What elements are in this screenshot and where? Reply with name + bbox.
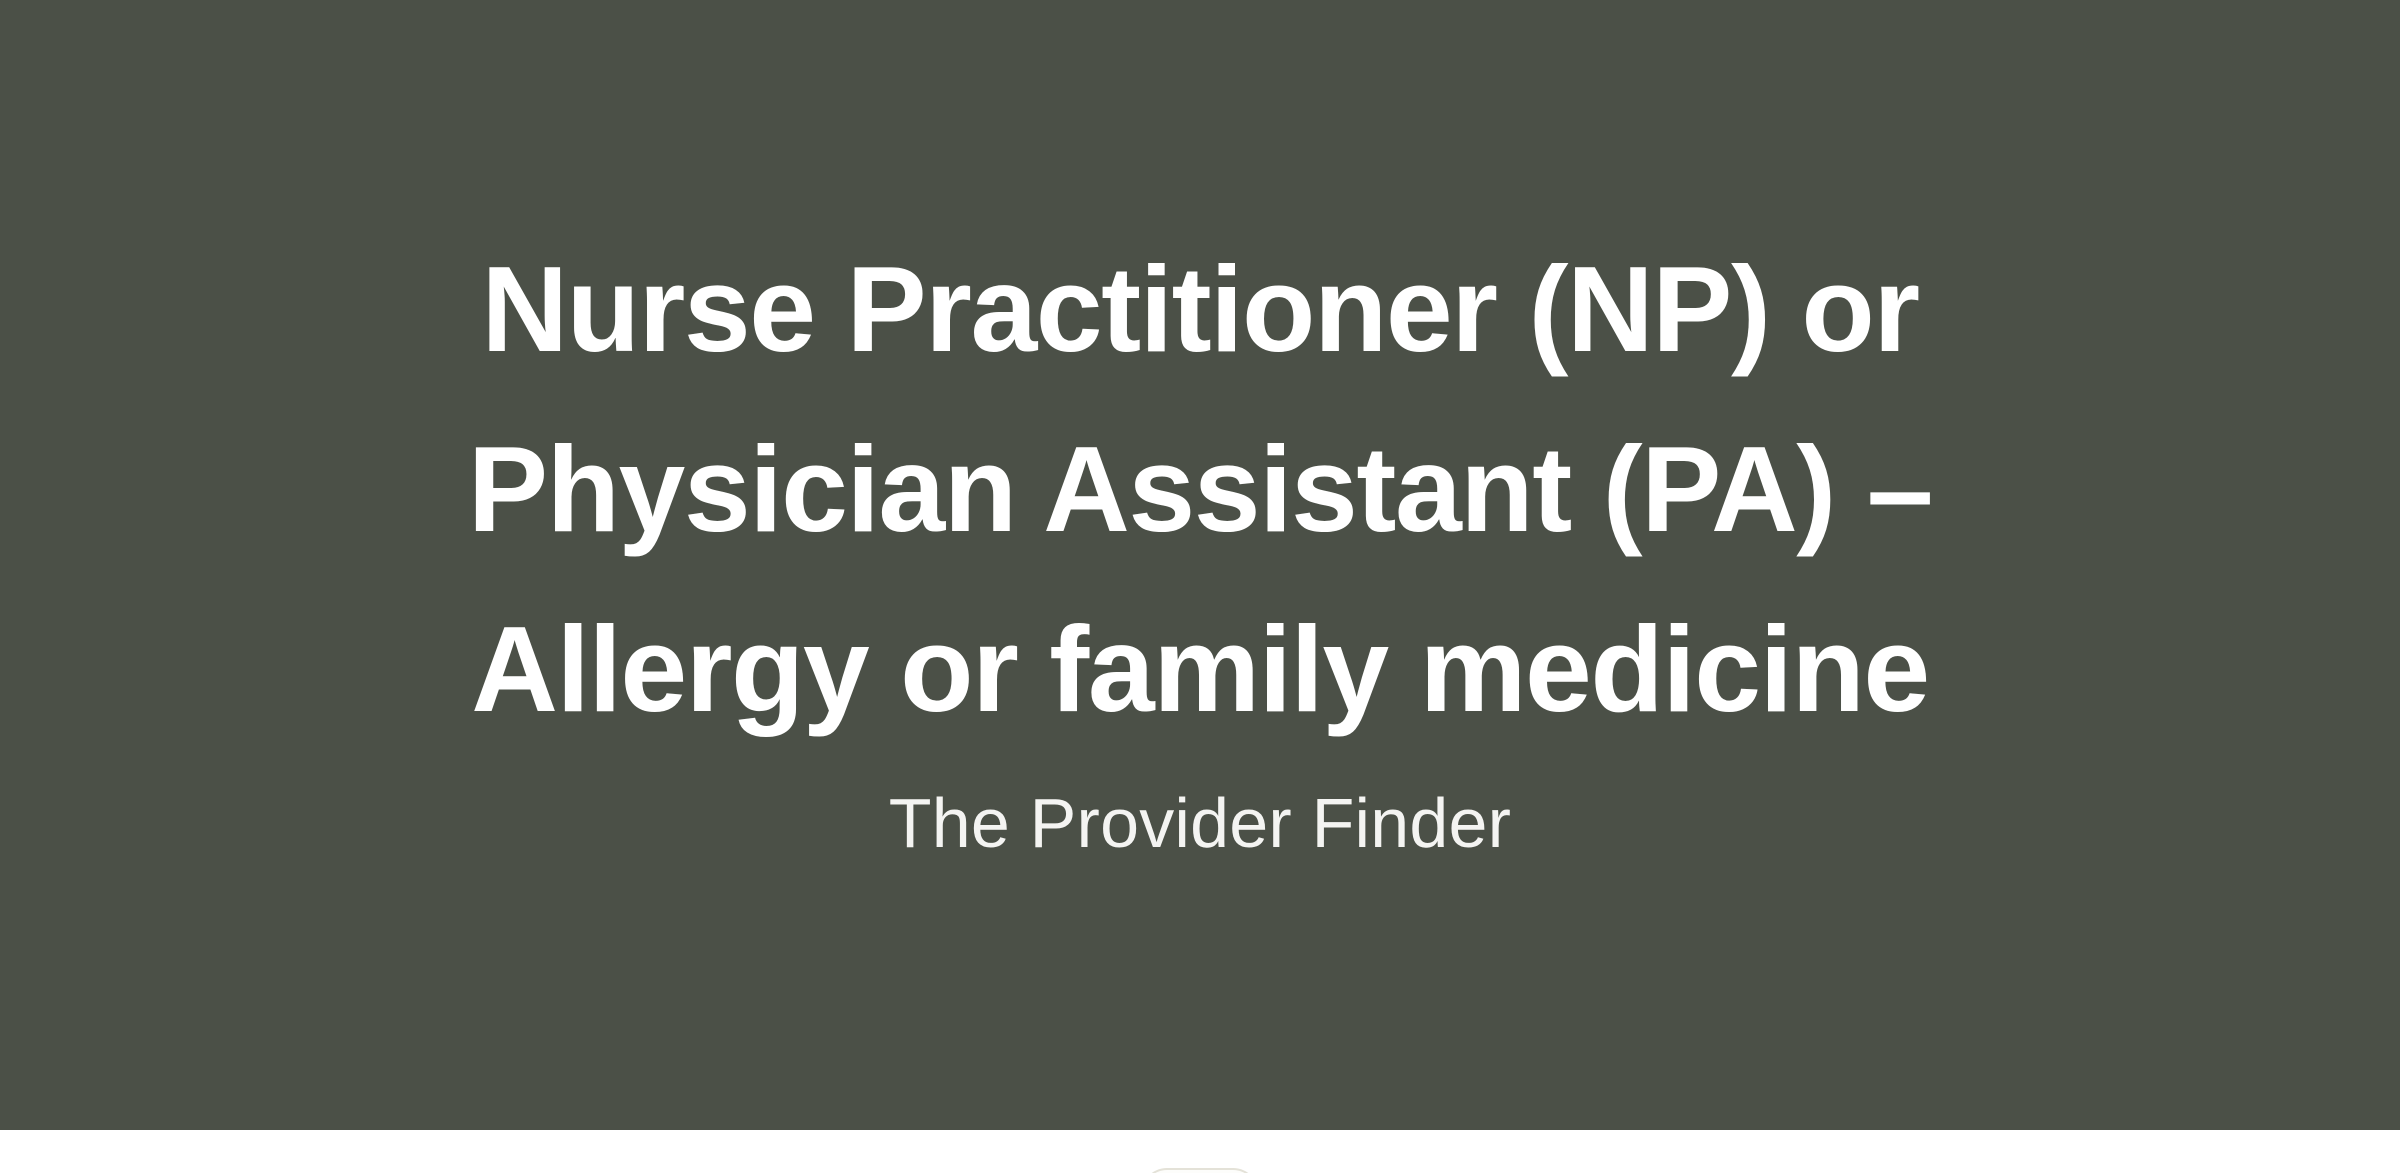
content-section [0,1130,2400,1173]
page-subtitle: The Provider Finder [260,771,2140,875]
hero-content: Nurse Practitioner (NP) or Physician Ass… [260,219,2140,875]
page-root: Nurse Practitioner (NP) or Physician Ass… [0,0,2400,1173]
partially-visible-card[interactable] [1141,1168,1259,1173]
hero-banner: Nurse Practitioner (NP) or Physician Ass… [0,0,2400,1130]
page-title: Nurse Practitioner (NP) or Physician Ass… [274,219,2126,759]
